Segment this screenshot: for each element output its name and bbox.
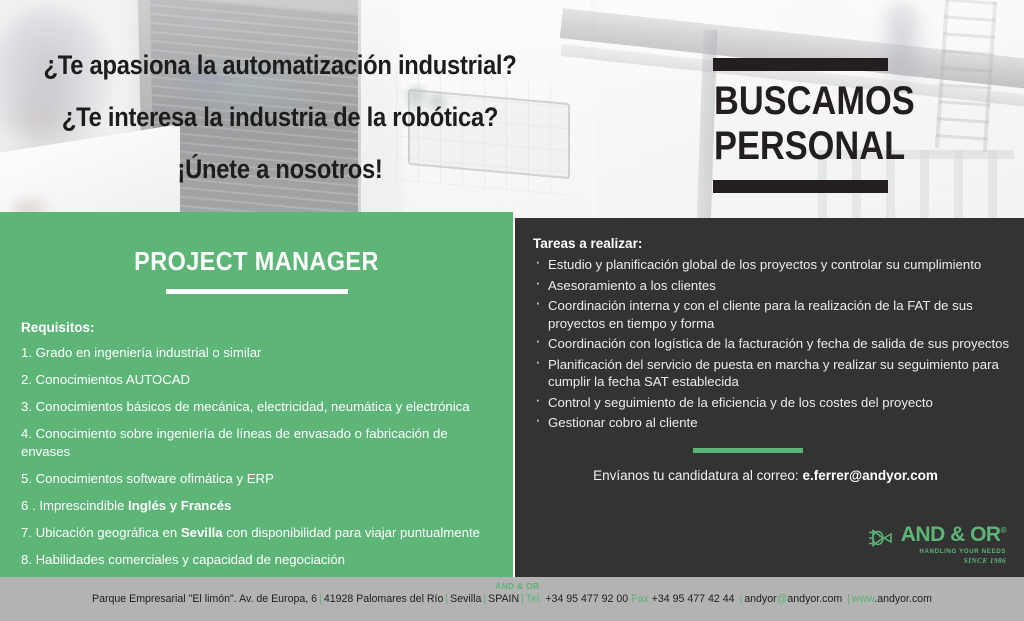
- job-poster: ¿Te apasiona la automatización industria…: [0, 0, 1024, 621]
- footer-address: Parque Empresarial "El limón". Av. de Eu…: [92, 593, 317, 605]
- footer-postal-city: 41928 Palomares del Río: [324, 593, 444, 605]
- requirements-label: Requisitos:: [21, 320, 497, 335]
- footer-sep-1: |: [317, 593, 324, 605]
- requirement-item: 5. Conocimientos software ofimática y ER…: [21, 470, 497, 487]
- footer-web-domain[interactable]: .andyor.com: [874, 593, 932, 605]
- requirement-emphasis: Sevilla: [181, 525, 223, 540]
- job-title: PROJECT MANAGER: [40, 246, 473, 277]
- footer-fax-label: Fax: [631, 593, 649, 605]
- hero-banner: ¿Te apasiona la automatización industria…: [0, 0, 1024, 222]
- requirement-text: 2. Conocimientos AUTOCAD: [21, 372, 190, 387]
- task-item: Asesoramiento a los clientes: [533, 277, 1010, 295]
- hiring-banner: BUSCAMOS PERSONAL: [700, 58, 900, 193]
- footer-email-at: @: [777, 593, 788, 605]
- tasks-label: Tareas a realizar:: [533, 236, 1010, 251]
- task-item: Coordinación interna y con el cliente pa…: [533, 297, 1010, 332]
- hiring-banner-rule-bottom: [713, 180, 888, 193]
- footer-country: SPAIN: [488, 593, 519, 605]
- requirement-text: 3. Conocimientos básicos de mecánica, el…: [21, 399, 470, 414]
- logo-wordmark-text: AND & OR: [901, 523, 1001, 546]
- headline-line-1: ¿Te apasiona la automatización industria…: [34, 52, 527, 79]
- task-item: Gestionar cobro al cliente: [533, 414, 1010, 432]
- footer-sep-6: |: [845, 593, 852, 605]
- job-title-underline: [166, 289, 348, 294]
- requirement-item: 2. Conocimientos AUTOCAD: [21, 371, 497, 388]
- logo-text-block: AND & OR® HANDLING YOUR NEEDS SINCE 1986: [901, 524, 1006, 565]
- headline-line-3: ¡Únete a nosotros!: [34, 156, 527, 183]
- apply-instruction: Envíanos tu candidatura al correo: e.fer…: [533, 468, 1010, 483]
- footer-email-domain[interactable]: andyor.com: [787, 593, 842, 605]
- requirement-text: 5. Conocimientos software ofimática y ER…: [21, 471, 274, 486]
- footer-email-user[interactable]: andyor: [744, 593, 776, 605]
- hiring-banner-line-2: PERSONAL: [714, 125, 886, 168]
- footer-tel: +34 95 477 92 00: [545, 593, 628, 605]
- hero-headlines: ¿Te apasiona la automatización industria…: [0, 52, 560, 183]
- footer-fax: +34 95 477 42 44: [652, 593, 735, 605]
- requirements-list: 1. Grado en ingeniería industrial o simi…: [21, 344, 497, 568]
- apply-prefix: Envíanos tu candidatura al correo:: [593, 468, 802, 483]
- logo-wordmark: AND & OR®: [901, 524, 1006, 545]
- logo-since: SINCE 1986: [901, 556, 1006, 565]
- requirement-text: 7. Ubicación geográfica en: [21, 525, 181, 540]
- requirement-emphasis: Inglés y Francés: [128, 498, 231, 513]
- tasks-divider: [693, 448, 803, 453]
- logo-registered-mark: ®: [1001, 526, 1006, 535]
- footer-sep-4: |: [519, 593, 526, 605]
- hiring-banner-line-1: BUSCAMOS: [714, 80, 886, 123]
- requirement-text: 8. Habilidades comerciales y capacidad d…: [21, 552, 345, 567]
- requirement-item: 8. Habilidades comerciales y capacidad d…: [21, 551, 497, 568]
- requirement-item: 6 . Imprescindible Inglés y Francés: [21, 497, 497, 514]
- task-item: Coordinación con logística de la factura…: [533, 335, 1010, 353]
- requirement-item: 1. Grado en ingeniería industrial o simi…: [21, 344, 497, 361]
- footer-contact-line: Parque Empresarial "El limón". Av. de Eu…: [0, 593, 1024, 605]
- task-item: Estudio y planificación global de los pr…: [533, 256, 1010, 274]
- requirement-item: 4. Conocimiento sobre ingeniería de líne…: [21, 425, 497, 459]
- footer-tel-label: Tel.: [526, 593, 543, 605]
- andor-mark-icon: [868, 527, 896, 549]
- tasks-panel: Tareas a realizar: Estudio y planificaci…: [515, 218, 1024, 577]
- task-item: Control y seguimiento de la eficiencia y…: [533, 394, 1010, 412]
- requirement-item: 3. Conocimientos básicos de mecánica, el…: [21, 398, 497, 415]
- hiring-banner-rule-top: [713, 58, 888, 71]
- tasks-list: Estudio y planificación global de los pr…: [533, 256, 1010, 432]
- requirement-text: 6 . Imprescindible: [21, 498, 128, 513]
- requirement-text-tail: con disponibilidad para viajar puntualme…: [223, 525, 480, 540]
- requirement-text: 4. Conocimiento sobre ingeniería de líne…: [21, 426, 448, 458]
- footer-web-prefix: www: [852, 593, 874, 605]
- headline-line-2: ¿Te interesa la industria de la robótica…: [34, 104, 527, 131]
- footer-brand: AND & OR: [495, 581, 539, 591]
- andor-mark-eye: [879, 535, 881, 537]
- apply-email[interactable]: e.ferrer@andyor.com: [802, 468, 937, 483]
- company-logo: AND & OR® HANDLING YOUR NEEDS SINCE 1986: [868, 524, 1006, 565]
- footer-province: Sevilla: [450, 593, 481, 605]
- requirement-item: 7. Ubicación geográfica en Sevilla con d…: [21, 524, 497, 541]
- footer-bar: AND & OR Parque Empresarial "El limón". …: [0, 577, 1024, 621]
- requirements-panel: PROJECT MANAGER Requisitos: 1. Grado en …: [0, 212, 513, 577]
- task-item: Planificación del servicio de puesta en …: [533, 356, 1010, 391]
- requirement-text: 1. Grado en ingeniería industrial o simi…: [21, 345, 261, 360]
- logo-tagline: HANDLING YOUR NEEDS: [901, 548, 1006, 555]
